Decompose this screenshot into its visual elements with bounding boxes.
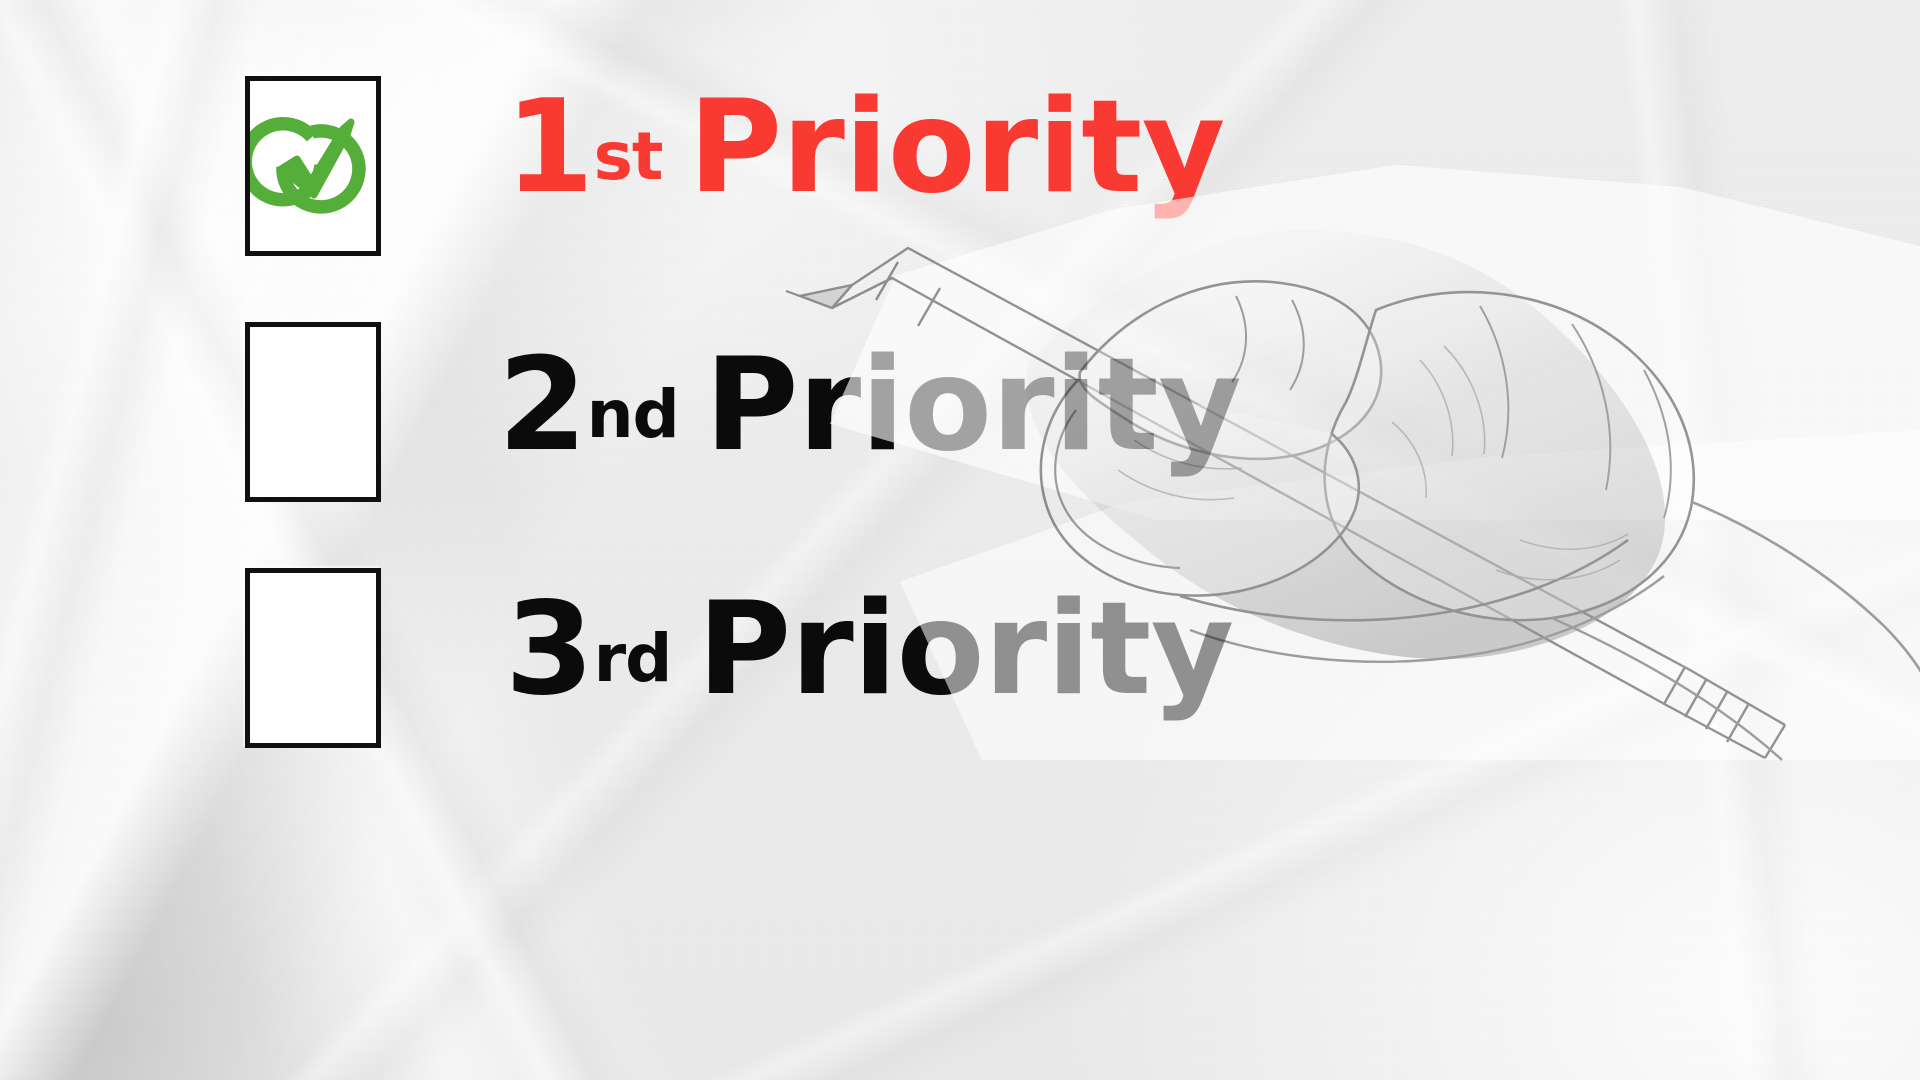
checklist-item-priority-2[interactable]: 2ndPriority [0, 312, 1920, 517]
label-priority-2: 2ndPriority [498, 342, 1241, 470]
priority-number-2: 2 [498, 331, 587, 480]
label-priority-3: 3rdPriority [505, 586, 1234, 714]
priority-number-1: 1 [505, 73, 594, 222]
priority-checklist-poster: 1stPriority 2ndPriority 3rdPriority [0, 0, 1920, 1080]
checkbox-priority-1[interactable] [245, 76, 381, 256]
checklist-item-priority-3[interactable]: 3rdPriority [0, 558, 1920, 763]
checkbox-priority-2[interactable] [245, 322, 381, 502]
priority-word-1: Priority [688, 73, 1224, 222]
checklist: 1stPriority 2ndPriority 3rdPriority [0, 0, 1920, 1080]
priority-ordinal-2: nd [587, 376, 679, 453]
priority-ordinal-3: rd [594, 620, 672, 697]
priority-word-3: Priority [697, 575, 1233, 724]
checkbox-priority-3[interactable] [245, 568, 381, 748]
label-priority-1: 1stPriority [505, 84, 1225, 212]
circle-check-icon [250, 81, 376, 251]
priority-number-3: 3 [505, 575, 594, 724]
priority-ordinal-1: st [594, 118, 663, 195]
checklist-item-priority-1[interactable]: 1stPriority [0, 62, 1920, 272]
priority-word-2: Priority [705, 331, 1241, 480]
